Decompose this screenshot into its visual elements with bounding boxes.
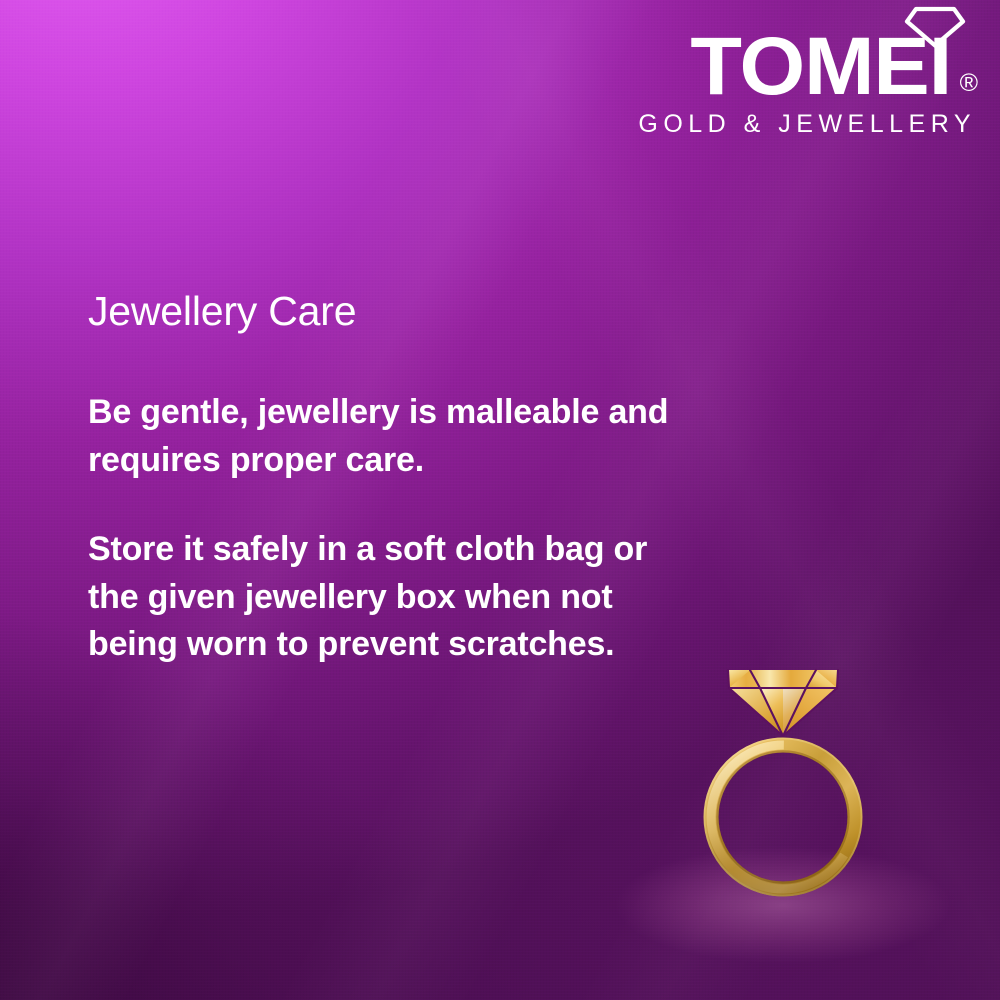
diamond-gem-icon (728, 670, 838, 736)
brand-wordmark-row: TOMEI ® (638, 32, 978, 103)
body-paragraph-2: Store it safely in a soft cloth bag or t… (88, 526, 688, 669)
ring-and-gem-graphic (688, 640, 878, 920)
ring-band-icon (705, 739, 862, 896)
body-paragraph-1: Be gentle, jewellery is malleable and re… (88, 389, 688, 484)
copy-block: Jewellery Care Be gentle, jewellery is m… (88, 289, 688, 669)
diamond-ring-illustration (688, 640, 878, 920)
brand-tagline: GOLD & JEWELLERY (638, 110, 978, 139)
registered-trademark-symbol: ® (960, 71, 978, 96)
jewellery-care-poster: TOMEI ® GOLD & JEWELLERY Jewellery Care … (0, 0, 1000, 1000)
brand-logo: TOMEI ® GOLD & JEWELLERY (638, 6, 978, 139)
brand-wordmark: TOMEI (691, 32, 952, 103)
page-title: Jewellery Care (88, 289, 688, 335)
